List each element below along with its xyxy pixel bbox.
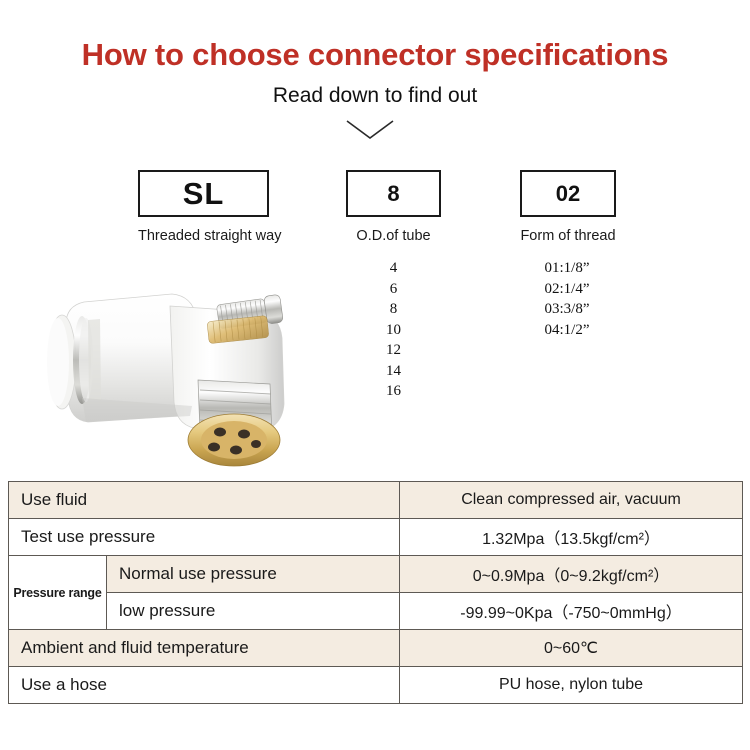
code-label-tube-od: O.D.of tube [346, 228, 441, 244]
table-row: Pressure range Normal use pressure 0~0.9… [9, 556, 743, 593]
option-list-thread-form: 01:1/8” 02:1/4” 03:3/8” 04:1/2” [512, 258, 622, 340]
list-item: 14 [346, 361, 441, 382]
code-label-series: Threaded straight way [138, 228, 269, 244]
table-row: Use fluid Clean compressed air, vacuum [9, 482, 743, 519]
table-row: Test use pressure 1.32Mpa（13.5kgf/cm²） [9, 519, 743, 556]
spec-label-test-use-pressure: Test use pressure [9, 519, 400, 556]
product-photo [22, 272, 322, 472]
page-title: How to choose connector specifications [0, 37, 750, 73]
list-item: 8 [346, 299, 441, 320]
page-subtitle: Read down to find out [0, 84, 750, 108]
list-item: 03:3/8” [512, 299, 622, 320]
spec-value-normal-use-pressure: 0~0.9Mpa（0~9.2kgf/cm²） [400, 556, 743, 593]
spec-label-normal-use-pressure: Normal use pressure [107, 556, 400, 593]
code-box-tube-od: 8 [346, 170, 441, 217]
spec-value-low-pressure: -99.99~0Kpa（-750~0mmHg） [400, 593, 743, 630]
code-label-thread-form: Form of thread [520, 228, 616, 244]
option-list-tube-od: 4 6 8 10 12 14 16 [346, 258, 441, 402]
spec-value-use-a-hose: PU hose, nylon tube [400, 667, 743, 704]
code-value-thread-form: 02 [556, 181, 580, 207]
table-row: low pressure -99.99~0Kpa（-750~0mmHg） [9, 593, 743, 630]
list-item: 10 [346, 320, 441, 341]
code-value-tube-od: 8 [387, 181, 399, 207]
spec-value-ambient-temperature: 0~60℃ [400, 630, 743, 667]
code-box-series: SL [138, 170, 269, 217]
code-box-thread-form: 02 [520, 170, 616, 217]
spec-label-ambient-temperature: Ambient and fluid temperature [9, 630, 400, 667]
list-item: 02:1/4” [512, 279, 622, 300]
spec-value-test-use-pressure: 1.32Mpa（13.5kgf/cm²） [400, 519, 743, 556]
spec-value-use-fluid: Clean compressed air, vacuum [400, 482, 743, 519]
spec-label-use-a-hose: Use a hose [9, 667, 400, 704]
list-item: 01:1/8” [512, 258, 622, 279]
spec-label-use-fluid: Use fluid [9, 482, 400, 519]
list-item: 04:1/2” [512, 320, 622, 341]
spec-label-low-pressure: low pressure [107, 593, 400, 630]
spec-group-label-pressure-range: Pressure range [9, 556, 107, 630]
table-row: Ambient and fluid temperature 0~60℃ [9, 630, 743, 667]
list-item: 4 [346, 258, 441, 279]
table-row: Use a hose PU hose, nylon tube [9, 667, 743, 704]
list-item: 6 [346, 279, 441, 300]
list-item: 16 [346, 381, 441, 402]
code-value-series: SL [183, 176, 225, 212]
specification-table: Use fluid Clean compressed air, vacuum T… [8, 481, 743, 704]
chevron-down-icon [345, 118, 395, 142]
list-item: 12 [346, 340, 441, 361]
